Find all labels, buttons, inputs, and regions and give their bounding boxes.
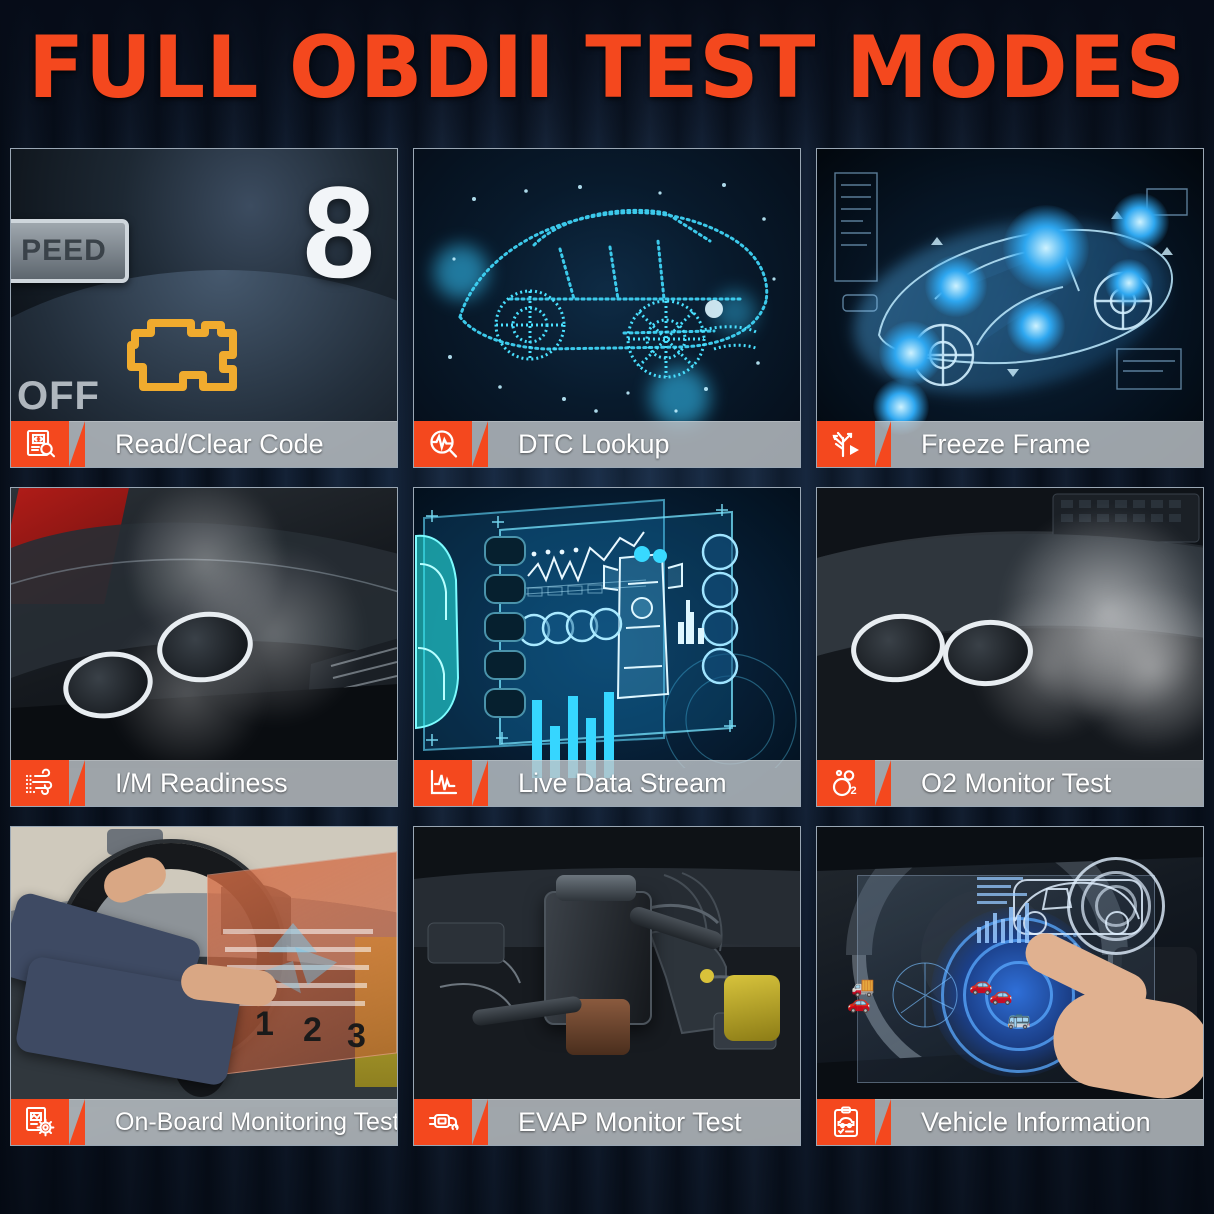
speed-badge: PEED: [11, 219, 129, 283]
tile-vehicle-information[interactable]: 🚗 🚚 🚗 🚗 🚌: [816, 826, 1204, 1146]
emission-wind-icon: [11, 760, 69, 806]
tile-label-bar: Vehicle Information: [817, 1099, 1203, 1145]
magnifier-waveform-icon: [414, 421, 472, 467]
tile-label-bar: DTC Lookup: [414, 421, 800, 467]
tile-image-dtc-lookup: [414, 149, 800, 467]
page-title: FULL OBDII TEST MODES: [0, 22, 1214, 114]
svg-text:2: 2: [851, 785, 857, 797]
tile-label: I/M Readiness: [69, 760, 397, 806]
tile-label-bar: On-Board Monitoring Test: [11, 1099, 397, 1145]
tile-image-on-board-monitoring-test: 1 2 3: [11, 827, 397, 1145]
evap-canister-icon: [414, 1099, 472, 1145]
tile-live-data-stream[interactable]: Live Data Stream: [413, 487, 801, 807]
promo-image: FULL OBDII TEST MODES 8 PEED OFF: [0, 0, 1214, 1214]
tile-label-bar: Freeze Frame: [817, 421, 1203, 467]
tile-freeze-frame[interactable]: Freeze Frame: [816, 148, 1204, 468]
check-engine-light-icon: [99, 299, 249, 408]
bus-glyph-icon: 🚌: [1007, 1007, 1031, 1031]
tile-label: Freeze Frame: [875, 421, 1203, 467]
tile-on-board-monitoring-test[interactable]: 1 2 3: [10, 826, 398, 1146]
tile-evap-monitor-test[interactable]: EVAP Monitor Test: [413, 826, 801, 1146]
tile-label-bar: 2 O2 Monitor Test: [817, 760, 1203, 806]
tile-label-bar: Live Data Stream: [414, 760, 800, 806]
gauge-number: 8: [303, 157, 371, 307]
tile-label: On-Board Monitoring Test: [69, 1099, 397, 1145]
tile-label: O2 Monitor Test: [875, 760, 1203, 806]
tile-image-freeze-frame: [817, 149, 1203, 467]
tile-image-vehicle-information: 🚗 🚚 🚗 🚗 🚌: [817, 827, 1203, 1145]
feature-grid: 8 PEED OFF: [10, 148, 1204, 1146]
tile-read-clear-code[interactable]: 8 PEED OFF: [10, 148, 398, 468]
document-code-search-icon: [11, 421, 69, 467]
tile-image-o2-monitor-test: [817, 488, 1203, 806]
clipboard-car-icon: [817, 1099, 875, 1145]
tile-label: Vehicle Information: [875, 1099, 1203, 1145]
ar-step-2: 2: [303, 1011, 322, 1050]
tile-image-live-data-stream: [414, 488, 800, 806]
tile-label: EVAP Monitor Test: [472, 1099, 800, 1145]
tile-im-readiness[interactable]: I/M Readiness: [10, 487, 398, 807]
tile-label: Live Data Stream: [472, 760, 800, 806]
tile-label: DTC Lookup: [472, 421, 800, 467]
tile-o2-monitor-test[interactable]: 2 O2 Monitor Test: [816, 487, 1204, 807]
tile-label: Read/Clear Code: [69, 421, 397, 467]
off-text: OFF: [17, 374, 100, 419]
tile-image-im-readiness: [11, 488, 397, 806]
ar-step-1: 1: [255, 1005, 274, 1044]
tile-label-bar: I/M Readiness: [11, 760, 397, 806]
chart-waveform-axis-icon: [414, 760, 472, 806]
ar-step-3: 3: [347, 1017, 366, 1056]
tile-label-bar: Read/Clear Code: [11, 421, 397, 467]
tile-image-read-clear-code: 8 PEED OFF: [11, 149, 397, 467]
document-gear-icon: [11, 1099, 69, 1145]
car-glyph-icon-3: 🚗: [989, 983, 1013, 1007]
tile-dtc-lookup[interactable]: DTC Lookup: [413, 148, 801, 468]
truck-glyph-icon: 🚚: [851, 975, 875, 999]
oxygen-bubbles-icon: 2: [817, 760, 875, 806]
snowflake-play-icon: [817, 421, 875, 467]
tile-image-evap-monitor-test: [414, 827, 800, 1145]
tile-label-bar: EVAP Monitor Test: [414, 1099, 800, 1145]
